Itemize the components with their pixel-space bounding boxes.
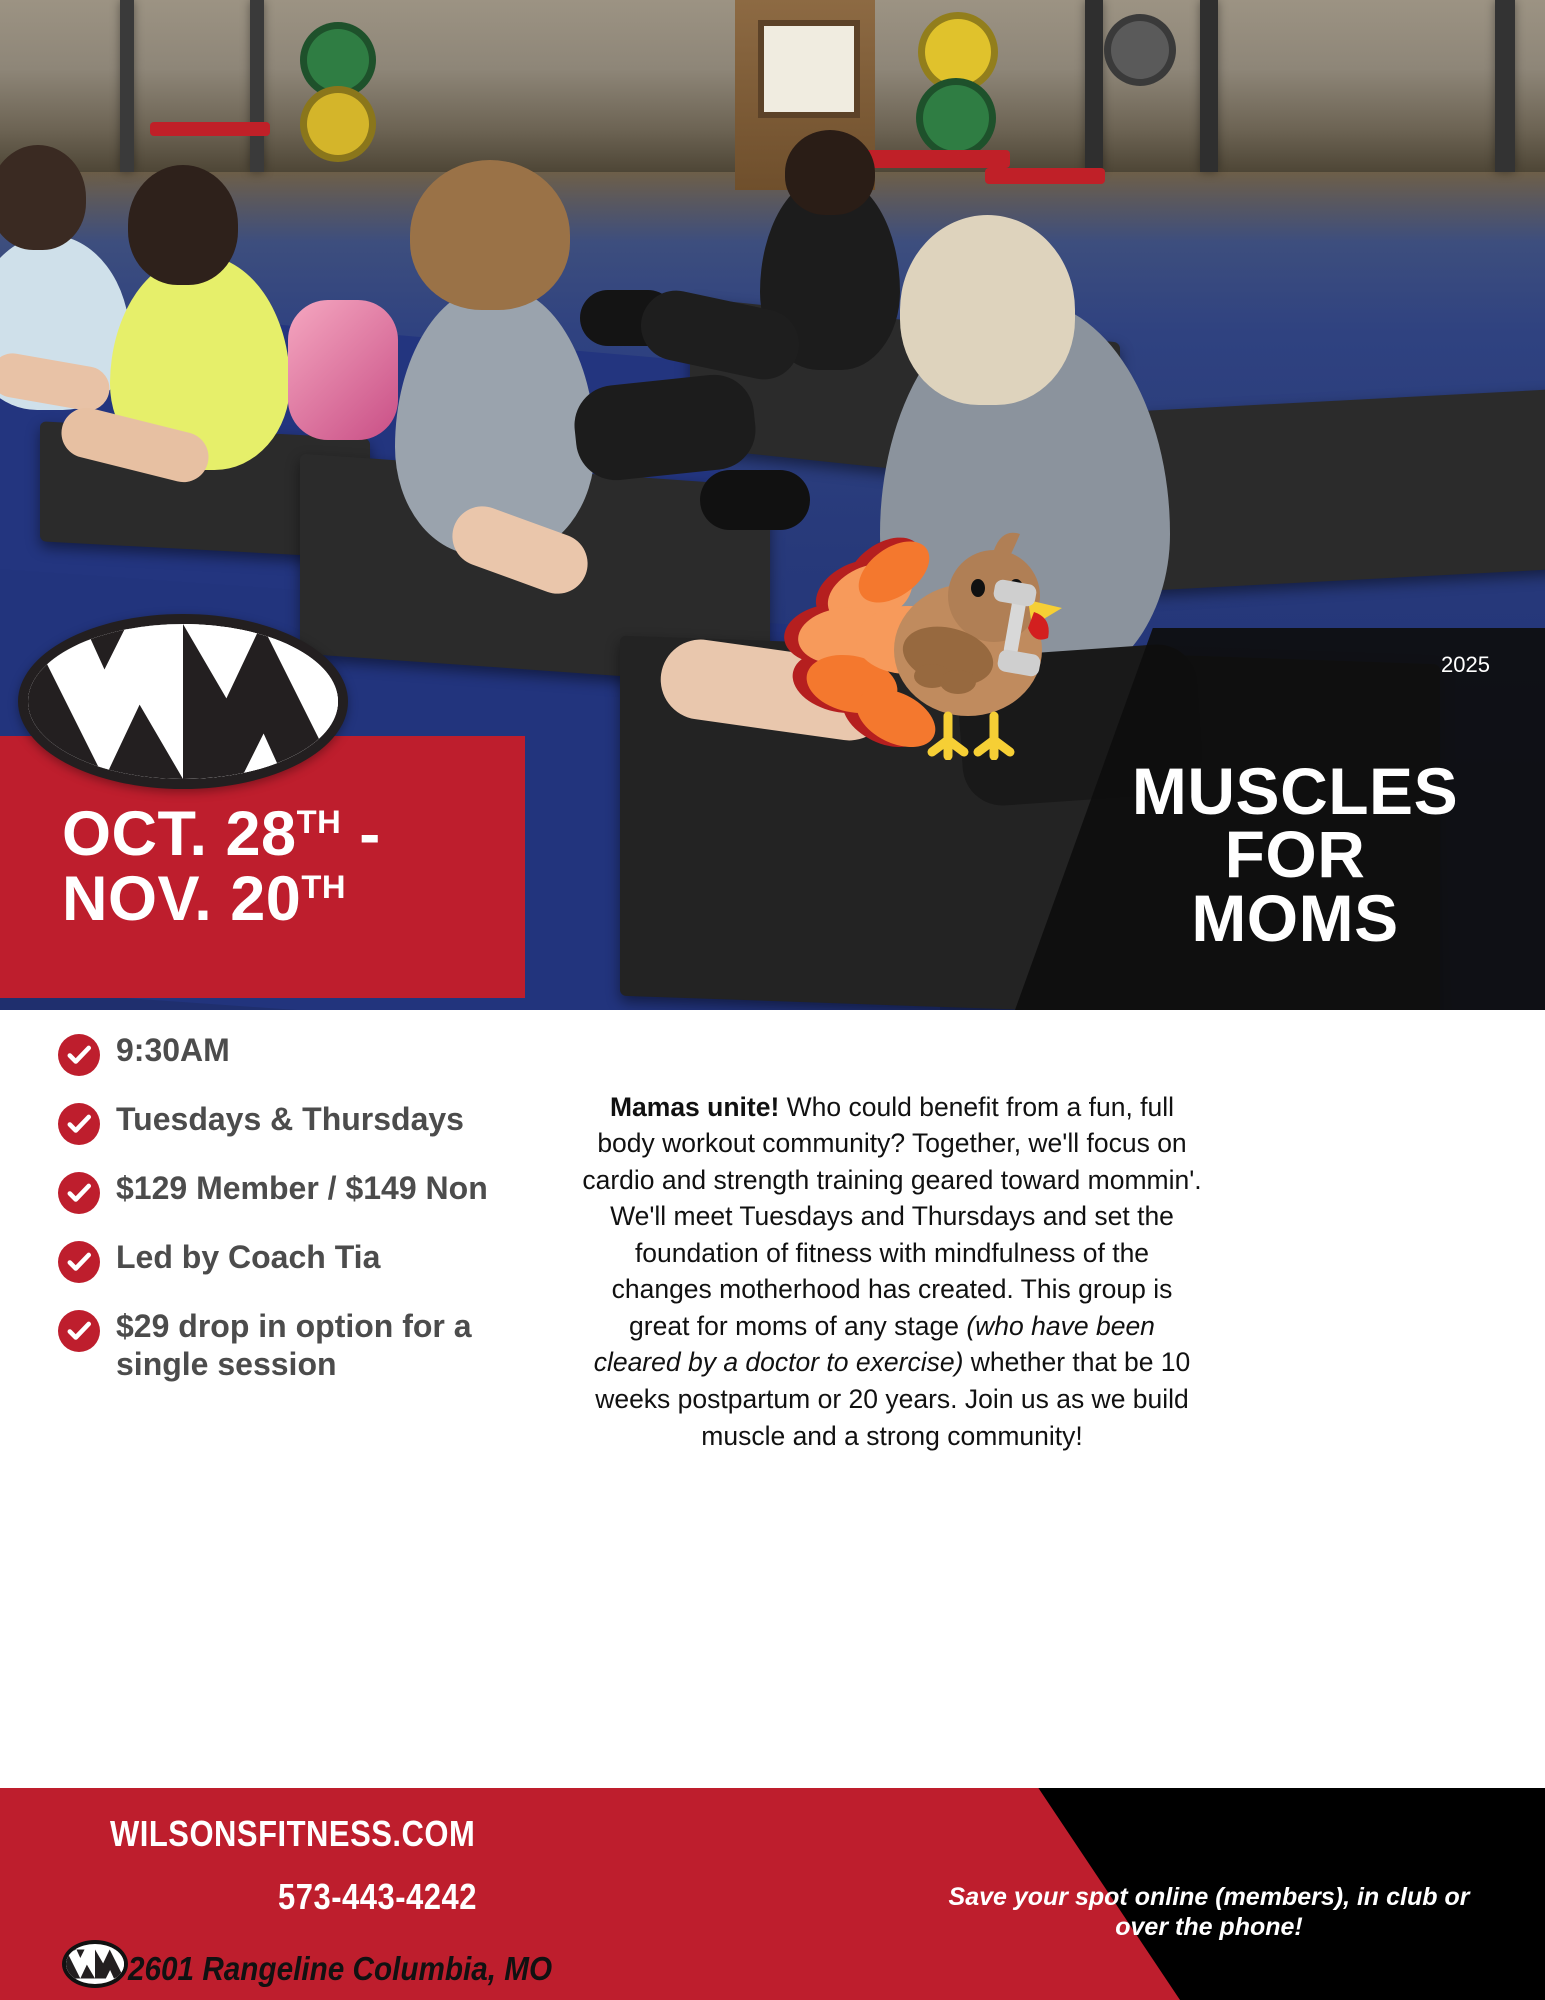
participant-leg [288, 300, 398, 440]
list-item: $129 Member / $149 Non [58, 1170, 558, 1214]
program-description: Mamas unite! Who could benefit from a fu… [582, 1089, 1202, 1455]
year-badge: 2025 [1441, 652, 1490, 678]
signup-note: Save your spot online (members), in club… [929, 1883, 1489, 1942]
list-item: $29 drop in option for a single session [58, 1308, 558, 1384]
list-item-label: Tuesdays & Thursdays [116, 1101, 464, 1139]
weight-plate [300, 86, 376, 162]
date-line-1-ordinal: TH [297, 803, 342, 840]
participant-hair [0, 145, 86, 250]
participant-hair [900, 215, 1075, 405]
participant-hair [128, 165, 238, 285]
list-item: Tuesdays & Thursdays [58, 1101, 558, 1145]
list-item-label: $129 Member / $149 Non [116, 1170, 488, 1208]
check-circle-icon [58, 1103, 100, 1145]
title-line-2: FOR [1085, 823, 1505, 886]
list-item-label: $29 drop in option for a single session [116, 1308, 558, 1384]
list-item: 9:30AM [58, 1032, 558, 1076]
participant-hair [410, 160, 570, 310]
weight-plate [1104, 14, 1176, 86]
check-circle-icon [58, 1034, 100, 1076]
weight-plate [916, 78, 996, 158]
list-item-label: 9:30AM [116, 1032, 230, 1070]
event-title: MUSCLES FOR MOMS [1085, 760, 1505, 950]
rack-upright [1495, 0, 1515, 172]
date-line-2: NOV. 20TH [0, 867, 525, 932]
barbell-bar [985, 168, 1105, 184]
description-part-1: Who could benefit from a fun, full body … [582, 1092, 1201, 1341]
participant-shoe [700, 470, 810, 530]
rack-upright [1085, 0, 1103, 172]
wilsons-fitness-logo [18, 614, 348, 789]
turkey-mascot-icon [772, 530, 1072, 760]
door-window [758, 20, 860, 118]
check-circle-icon [58, 1310, 100, 1352]
rack-upright [1200, 0, 1218, 172]
date-line-1-text: OCT. 28 [62, 799, 297, 869]
details-checklist: 9:30AM Tuesdays & Thursdays $129 Member … [58, 1032, 558, 1409]
date-line-2-text: NOV. 20 [62, 864, 301, 934]
title-line-3: MOMS [1085, 887, 1505, 950]
flyer-page: 2025 MUSCLES FOR MOMS OCT. 28TH - NOV. 2… [0, 0, 1545, 2000]
participant-hair [785, 130, 875, 215]
title-line-1: MUSCLES [1085, 760, 1505, 823]
list-item: Led by Coach Tia [58, 1239, 558, 1283]
address-text: 2601 Rangeline Columbia, MO [128, 1950, 552, 1988]
barbell-bar [150, 122, 270, 136]
website-link[interactable]: WILSONSFITNESS.COM [110, 1813, 475, 1855]
date-line-2-ordinal: TH [301, 868, 346, 905]
phone-link[interactable]: 573-443-4242 [278, 1876, 477, 1918]
check-circle-icon [58, 1172, 100, 1214]
rack-upright [250, 0, 264, 172]
date-line-1: OCT. 28TH - [0, 802, 525, 867]
list-item-label: Led by Coach Tia [116, 1239, 380, 1277]
description-lead: Mamas unite! [610, 1092, 779, 1122]
exercise-mat [1140, 389, 1545, 591]
check-circle-icon [58, 1241, 100, 1283]
date-line-1-dash: - [341, 799, 380, 869]
wilsons-fitness-logo-mark [62, 1940, 128, 1988]
rack-upright [120, 0, 134, 172]
barbell-bar [860, 150, 1010, 168]
